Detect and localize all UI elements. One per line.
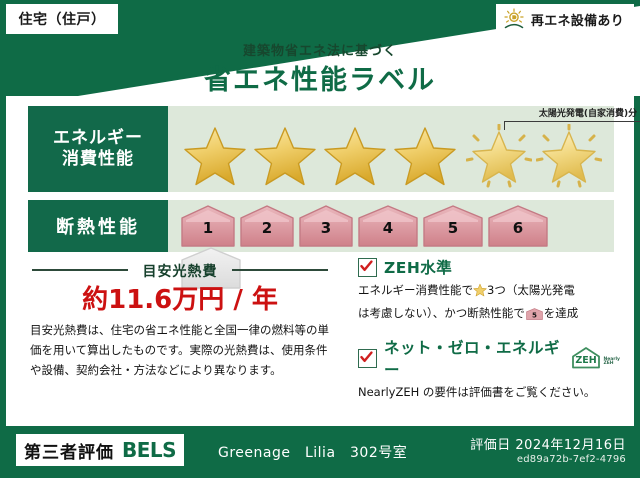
zeh-desc-part-a: エネルギー消費性能で — [358, 283, 473, 297]
net-zero-energy-title: ネット・ゼロ・エネルギー — [384, 336, 560, 380]
net-zero-energy-row: ネット・ゼロ・エネルギー ZEH Nearly ZEH — [358, 336, 620, 380]
insulation-performance-row: 断熱性能 — [28, 200, 614, 252]
title-main: 省エネ性能ラベル — [0, 58, 640, 97]
title-subtitle: 建築物省エネ法に基づく — [0, 40, 640, 59]
insulation-grade-1: 1 — [180, 205, 236, 247]
energy-star-2 — [252, 124, 318, 188]
svg-text:ZEH: ZEH — [576, 355, 597, 366]
insulation-grade-5: 5 — [422, 205, 484, 247]
bels-certification-chip: 第三者評価 BELS — [16, 434, 184, 466]
zeh-logo-tiny-line2: ZEH — [603, 361, 613, 366]
inline-grade-badge-icon: 5 — [526, 307, 543, 328]
energy-star-3 — [322, 124, 388, 188]
energy-label-line1: エネルギー — [53, 128, 143, 149]
solar-annotation-label: 太陽光発電(自家消費)分 — [498, 106, 640, 119]
insulation-performance-label: 断熱性能 — [28, 200, 168, 252]
zeh-desc-part-star: 3つ（太陽光発電 — [487, 283, 575, 297]
zeh-standard-title: ZEH水準 — [384, 256, 452, 278]
insulation-grade-5-number: 5 — [422, 219, 484, 237]
energy-label-root: 住宅（住戸） 再エネ設備あり 建築物省エネ法に基づく 省エネ性能ラベル — [0, 0, 640, 478]
insulation-grade-6: 6 — [487, 205, 549, 247]
footer-band: 第三者評価 BELS Greenage Lilia 302号室 評価日 2024… — [0, 426, 640, 478]
evaluation-date: 評価日 2024年12月16日 — [470, 434, 626, 453]
energy-label-line2: 消費性能 — [62, 149, 134, 170]
insulation-grade-list: 1 2 3 — [180, 205, 610, 247]
zeh-desc-part-c: を達成 — [544, 306, 579, 320]
building-name: Greenage Lilia 302号室 — [218, 442, 407, 462]
insulation-grade-2: 2 — [239, 205, 295, 247]
svg-text:5: 5 — [532, 310, 537, 319]
renewable-energy-badge: 再エネ設備あり — [496, 4, 634, 34]
cost-description: 目安光熱費は、住宅の省エネ性能と全国一律の燃料等の単価を用いて算出したものです。… — [30, 320, 332, 380]
energy-star-6-solar — [536, 124, 602, 188]
insulation-grade-1-number: 1 — [180, 219, 236, 237]
label-body-card: エネルギー 消費性能 太陽光発電(自家消費)分 — [6, 96, 634, 426]
zeh-logo-tiny-text: Nearly ZEH — [603, 358, 620, 370]
insulation-grade-6-number: 6 — [487, 219, 549, 237]
energy-star-5-solar — [466, 124, 532, 188]
energy-stars-area: 太陽光発電(自家消費)分 — [178, 106, 614, 192]
insulation-grade-3-number: 3 — [298, 219, 354, 237]
zeh-section: ZEH水準 エネルギー消費性能で3つ（太陽光発電は考慮しない）、かつ断熱性能で5… — [358, 256, 620, 403]
renewable-badge-label: 再エネ設備あり — [531, 10, 624, 29]
bels-en-label: BELS — [122, 438, 176, 462]
bels-jp-label: 第三者評価 — [24, 438, 114, 463]
zeh-standard-row: ZEH水準 — [358, 256, 620, 278]
energy-performance-row: エネルギー 消費性能 太陽光発電(自家消費)分 — [28, 106, 614, 192]
cost-heading-label: 目安光熱費 — [30, 261, 330, 281]
insulation-grade-4: 4 — [357, 205, 419, 247]
check-icon-2 — [358, 349, 377, 368]
energy-star-4 — [392, 124, 458, 188]
insulation-grade-4-number: 4 — [357, 219, 419, 237]
housing-type-chip: 住宅（住戸） — [6, 4, 118, 34]
check-icon — [358, 258, 377, 277]
inline-star-icon — [473, 283, 487, 304]
cost-heading-row: 目安光熱費 — [30, 261, 330, 277]
energy-star-1 — [182, 124, 248, 188]
sun-icon — [502, 8, 526, 30]
zeh-standard-description: エネルギー消費性能で3つ（太陽光発電は考慮しない）、かつ断熱性能で5を達成 — [358, 281, 620, 327]
evaluation-id: ed89a72b-7ef2-4796 — [517, 454, 626, 465]
insulation-grade-3: 3 — [298, 205, 354, 247]
cost-amount: 約11.6万円 / 年 — [30, 279, 330, 316]
housing-type-label: 住宅（住戸） — [19, 9, 106, 29]
insulation-grade-2-number: 2 — [239, 219, 295, 237]
zeh-house-logo-icon: ZEH Nearly ZEH — [570, 346, 620, 370]
energy-performance-label: エネルギー 消費性能 — [28, 106, 168, 192]
net-zero-energy-description: NearlyZEH の要件は評価書をご覧ください。 — [358, 383, 620, 403]
zeh-desc-part-b: は考慮しない）、かつ断熱性能で — [358, 306, 525, 320]
